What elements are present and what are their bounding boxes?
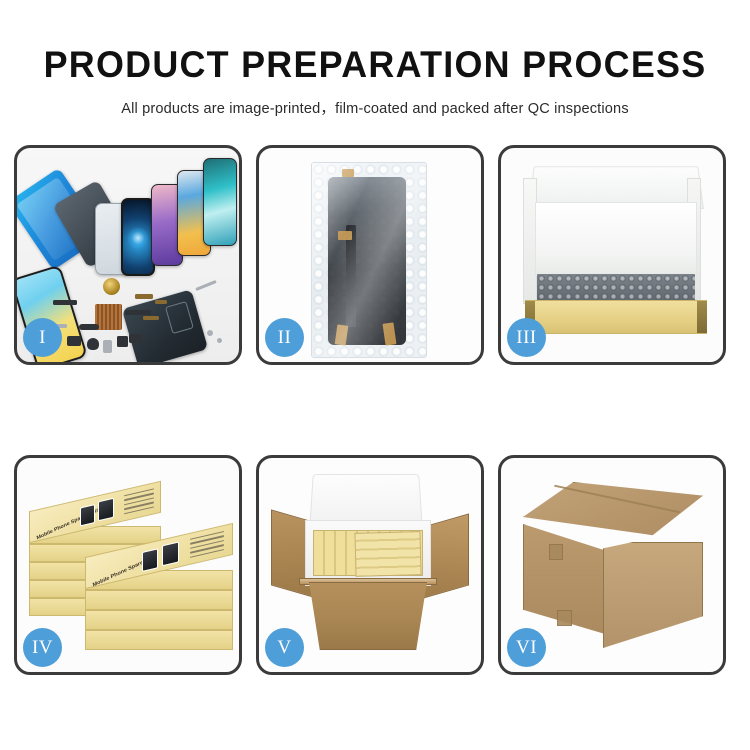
spare-part [117, 336, 128, 347]
process-step-5: V [256, 455, 484, 675]
step-panel: I [14, 145, 242, 365]
step-badge-1: I [23, 318, 62, 357]
process-step-1: I [14, 145, 242, 365]
phone-display-teal [203, 158, 237, 246]
header: PRODUCT PREPARATION PROCESS All products… [0, 0, 750, 118]
spare-part [143, 316, 159, 320]
step-badge-6: VI [507, 628, 546, 667]
spare-part [67, 336, 81, 346]
box-thumb-image [162, 541, 179, 566]
page-title: PRODUCT PREPARATION PROCESS [11, 46, 739, 83]
yellow-boxes-inside [354, 531, 421, 577]
phone-display-jellyfish [121, 198, 155, 276]
carton-front-face [301, 582, 435, 650]
spare-part [103, 340, 112, 353]
stacked-box [85, 610, 233, 630]
box-thumb-image [80, 504, 95, 526]
screw-part [217, 338, 222, 343]
page-subtitle: All products are image-printed，film-coat… [0, 97, 750, 118]
circuit-chip-part [95, 304, 122, 330]
stacked-box [85, 590, 233, 610]
process-step-6: VI [498, 455, 726, 675]
box-thumb-image [142, 548, 158, 572]
wireless-coil-part [103, 278, 120, 295]
process-step-4: Mobile Phone Spare Parts Mobile Phone Sp… [14, 455, 242, 675]
step-panel: II [256, 145, 484, 365]
spare-part [87, 338, 99, 350]
tape-patch [549, 544, 563, 560]
process-grid: I II [14, 145, 736, 683]
screwdriver-tool [195, 280, 217, 291]
bubble-wrap-bag [311, 162, 427, 358]
box-thumb-image [98, 498, 114, 522]
carton-right-face [603, 542, 703, 648]
bubble-sheen [312, 163, 426, 357]
step-badge-4: IV [23, 628, 62, 667]
stacked-box [85, 630, 233, 650]
box-spec-lines [124, 488, 154, 517]
process-step-3: III [498, 145, 726, 365]
infographic-page: PRODUCT PREPARATION PROCESS All products… [0, 0, 750, 750]
spare-part [129, 334, 142, 343]
process-step-2: II [256, 145, 484, 365]
step-panel: V [256, 455, 484, 675]
spare-part [79, 324, 99, 330]
step-badge-3: III [507, 318, 546, 357]
step-panel: VI [498, 455, 726, 675]
screw-part [207, 330, 213, 336]
yellow-box-front [525, 300, 707, 334]
step-panel: III [498, 145, 726, 365]
box-spec-lines [190, 531, 224, 561]
spare-part [53, 300, 77, 305]
spare-part [125, 310, 151, 315]
step-panel: Mobile Phone Spare Parts Mobile Phone Sp… [14, 455, 242, 675]
step-badge-2: II [265, 318, 304, 357]
spare-part [155, 300, 167, 304]
tape-patch [557, 610, 572, 626]
white-foam-liner [535, 202, 697, 276]
spare-part [135, 294, 153, 299]
step-badge-5: V [265, 628, 304, 667]
